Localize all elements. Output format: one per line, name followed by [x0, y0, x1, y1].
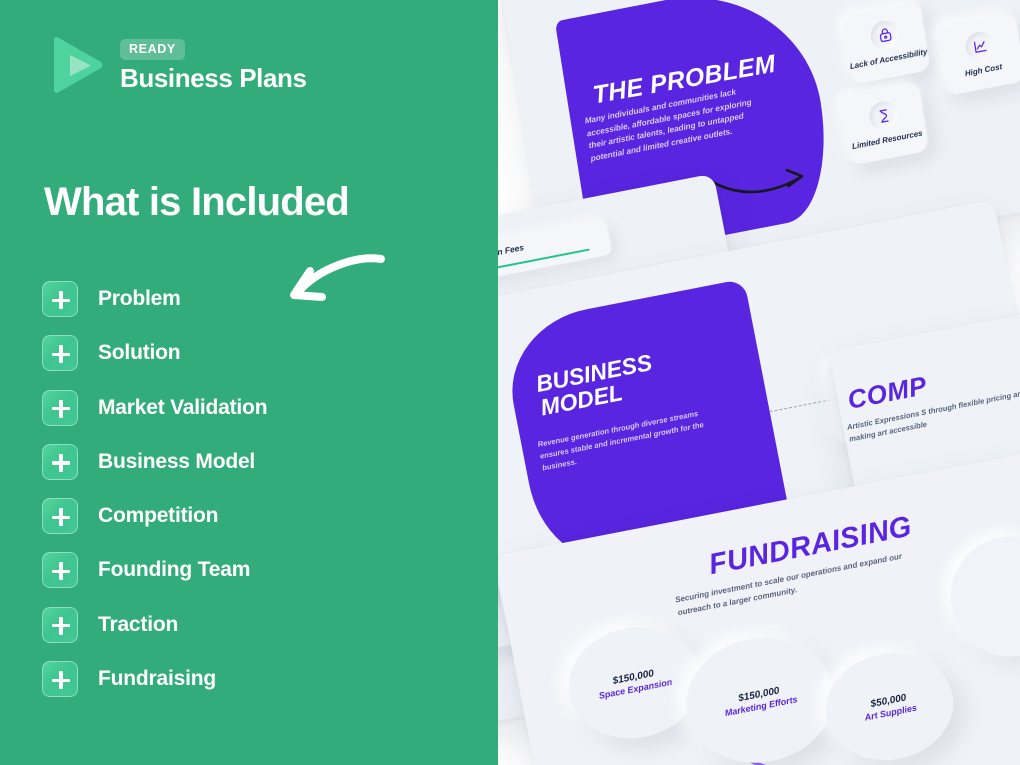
checklist-item-problem[interactable]: Problem: [42, 281, 267, 317]
problem-card-label: High Cost: [964, 62, 1003, 79]
checklist-item-market-validation[interactable]: Market Validation: [42, 390, 267, 426]
checklist-item-label: Traction: [98, 613, 178, 637]
checklist-item-fundraising[interactable]: Fundraising: [42, 661, 267, 697]
checklist-item-business-model[interactable]: Business Model: [42, 444, 267, 480]
plus-icon[interactable]: [42, 444, 78, 480]
checklist-item-label: Problem: [98, 287, 181, 311]
problem-card-high-cost[interactable]: High Cost: [936, 12, 1020, 96]
problem-card-limited-resources[interactable]: Limited Resources: [840, 81, 929, 165]
checklist-item-label: Business Model: [98, 450, 255, 474]
checklist-item-solution[interactable]: Solution: [42, 335, 267, 371]
left-green-panel: READY Business Plans What is Included Pr…: [0, 0, 498, 765]
checklist-item-founding-team[interactable]: Founding Team: [42, 552, 267, 588]
checklist-item-competition[interactable]: Competition: [42, 498, 267, 534]
checklist-item-label: Fundraising: [98, 667, 216, 691]
plus-icon[interactable]: [42, 661, 78, 697]
brand-name: Business Plans: [120, 63, 307, 94]
problem-card-label: Limited Resources: [851, 129, 923, 153]
play-triangle-icon: [44, 34, 106, 96]
checklist-item-label: Market Validation: [98, 396, 267, 420]
brand-text-block: READY Business Plans: [120, 37, 307, 94]
poster-canvas: THE PROBLEM Many individuals and communi…: [0, 0, 1020, 765]
plus-icon[interactable]: [42, 498, 78, 534]
page-title: What is Included: [44, 180, 349, 225]
chart-trend-icon: [964, 29, 996, 62]
curved-arrow-icon: [278, 245, 388, 315]
problem-card-label: Lack of Accessibility: [849, 47, 928, 72]
plus-icon[interactable]: [42, 335, 78, 371]
problem-card-accessibility[interactable]: Lack of Accessibility: [841, 1, 930, 85]
plus-icon[interactable]: [42, 607, 78, 643]
dashed-connector: [770, 399, 831, 412]
plus-icon[interactable]: [42, 281, 78, 317]
ready-badge: READY: [120, 39, 185, 60]
included-checklist: Problem Solution Market Validation Busin…: [42, 281, 267, 715]
plus-icon[interactable]: [42, 552, 78, 588]
hourglass-icon: [868, 99, 900, 132]
checklist-item-label: Solution: [98, 341, 180, 365]
plus-icon[interactable]: [42, 390, 78, 426]
ring-decoration: [940, 526, 1020, 667]
checklist-item-traction[interactable]: Traction: [42, 607, 267, 643]
checklist-item-label: Competition: [98, 504, 218, 528]
brand-logo-row: READY Business Plans: [44, 34, 307, 96]
checklist-item-label: Founding Team: [98, 558, 250, 582]
lock-accessibility-icon: [869, 18, 901, 51]
